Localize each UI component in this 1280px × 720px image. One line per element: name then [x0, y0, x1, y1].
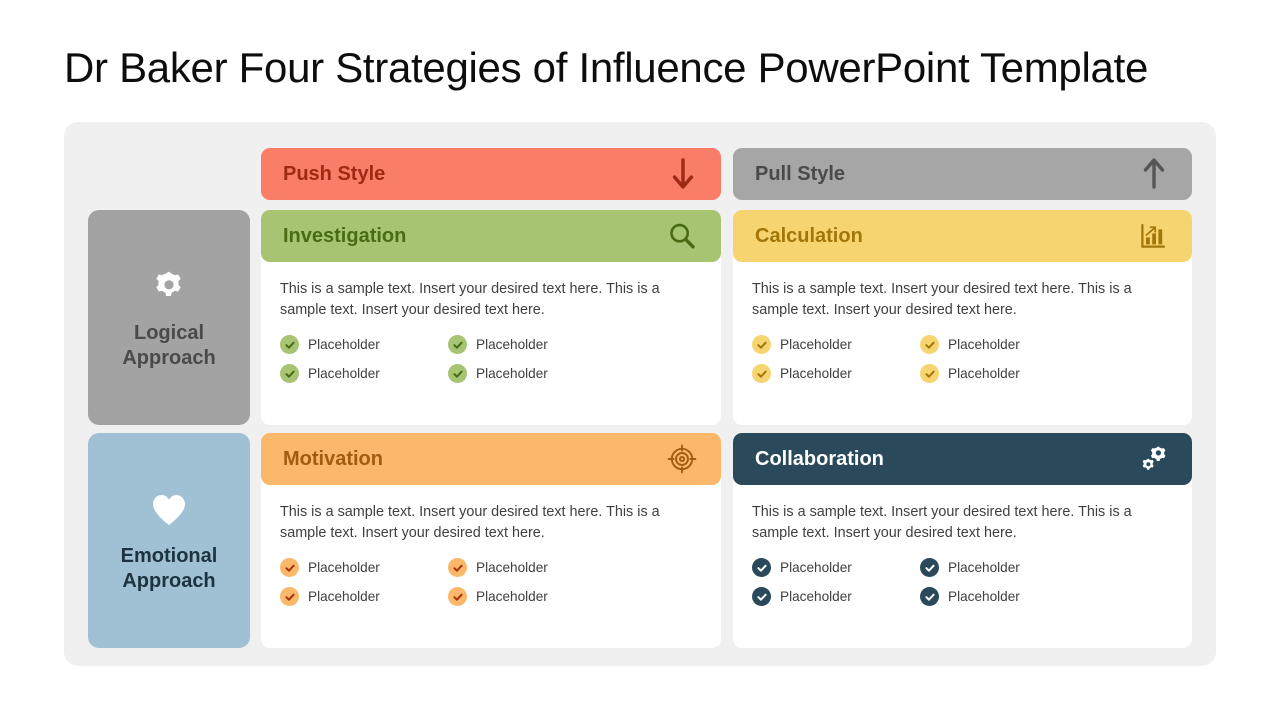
placeholder-label: Placeholder	[780, 587, 852, 606]
check-circle-icon	[280, 587, 299, 606]
diagram-panel: Push Style Pull Style	[64, 122, 1216, 666]
check-circle-icon	[280, 364, 299, 383]
approach-tile-emotional[interactable]: Emotional Approach	[88, 433, 250, 648]
placeholder-label: Placeholder	[308, 587, 380, 606]
placeholder-list: Placeholder Placeholder Placeholder	[752, 558, 1173, 606]
placeholder-label: Placeholder	[308, 335, 380, 354]
gear-icon	[147, 265, 191, 309]
placeholder-item[interactable]: Placeholder	[280, 558, 448, 577]
check-circle-icon	[752, 587, 771, 606]
placeholder-label: Placeholder	[780, 558, 852, 577]
check-circle-icon	[752, 558, 771, 577]
placeholder-item[interactable]: Placeholder	[752, 335, 920, 354]
strategy-card-motivation-header[interactable]: Motivation	[261, 433, 721, 485]
strategy-card-motivation-body: This is a sample text. Insert your desir…	[261, 485, 721, 606]
check-circle-icon	[280, 558, 299, 577]
placeholder-item[interactable]: Placeholder	[920, 335, 1173, 354]
check-circle-icon	[448, 364, 467, 383]
placeholder-label: Placeholder	[948, 558, 1020, 577]
gears-icon	[1136, 442, 1170, 476]
arrow-down-icon	[667, 157, 699, 191]
strategy-card-motivation-description: This is a sample text. Insert your desir…	[280, 502, 702, 544]
placeholder-item[interactable]: Placeholder	[752, 364, 920, 383]
placeholder-label: Placeholder	[476, 558, 548, 577]
check-circle-icon	[752, 335, 771, 354]
placeholder-item[interactable]: Placeholder	[920, 587, 1173, 606]
placeholder-item[interactable]: Placeholder	[448, 364, 702, 383]
strategy-card-calculation-body: This is a sample text. Insert your desir…	[733, 262, 1192, 383]
approach-tile-logical-label: Logical Approach	[122, 321, 215, 371]
placeholder-label: Placeholder	[308, 364, 380, 383]
strategy-card-calculation[interactable]: Calculation This is a sample text. Inser…	[733, 210, 1192, 425]
check-circle-icon	[920, 364, 939, 383]
strategy-card-investigation-description: This is a sample text. Insert your desir…	[280, 279, 702, 321]
placeholder-list: Placeholder Placeholder Placeholder	[752, 335, 1173, 383]
placeholder-item[interactable]: Placeholder	[752, 558, 920, 577]
strategy-card-investigation-title: Investigation	[283, 225, 665, 248]
strategy-card-calculation-title: Calculation	[755, 225, 1136, 248]
bar-chart-icon	[1136, 219, 1170, 253]
style-bar-push-label: Push Style	[283, 163, 667, 186]
strategy-card-investigation[interactable]: Investigation This is a sample text. Ins…	[261, 210, 721, 425]
placeholder-list: Placeholder Placeholder Placeholder	[280, 335, 702, 383]
placeholder-item[interactable]: Placeholder	[752, 587, 920, 606]
strategy-card-motivation[interactable]: Motivation This is a sample text. Insert…	[261, 433, 721, 648]
magnifier-icon	[665, 219, 699, 253]
style-bar-pull[interactable]: Pull Style	[733, 148, 1192, 200]
placeholder-item[interactable]: Placeholder	[448, 558, 702, 577]
check-circle-icon	[920, 335, 939, 354]
placeholder-item[interactable]: Placeholder	[280, 364, 448, 383]
strategy-card-calculation-header[interactable]: Calculation	[733, 210, 1192, 262]
check-circle-icon	[280, 335, 299, 354]
placeholder-item[interactable]: Placeholder	[280, 587, 448, 606]
check-circle-icon	[920, 587, 939, 606]
check-circle-icon	[448, 335, 467, 354]
placeholder-item[interactable]: Placeholder	[448, 335, 702, 354]
slide-canvas: Dr Baker Four Strategies of Influence Po…	[0, 0, 1280, 720]
page-title: Dr Baker Four Strategies of Influence Po…	[64, 40, 1224, 96]
strategy-card-collaboration[interactable]: Collaboration This is a sample text. Ins…	[733, 433, 1192, 648]
placeholder-label: Placeholder	[476, 364, 548, 383]
placeholder-label: Placeholder	[948, 335, 1020, 354]
arrow-up-icon	[1138, 157, 1170, 191]
approach-tile-emotional-label: Emotional Approach	[121, 544, 218, 594]
check-circle-icon	[752, 364, 771, 383]
approach-tile-logical[interactable]: Logical Approach	[88, 210, 250, 425]
placeholder-label: Placeholder	[308, 558, 380, 577]
placeholder-item[interactable]: Placeholder	[920, 558, 1173, 577]
placeholder-item[interactable]: Placeholder	[280, 335, 448, 354]
placeholder-label: Placeholder	[476, 587, 548, 606]
placeholder-item[interactable]: Placeholder	[920, 364, 1173, 383]
check-circle-icon	[448, 558, 467, 577]
strategy-card-collaboration-title: Collaboration	[755, 448, 1136, 471]
check-circle-icon	[448, 587, 467, 606]
strategy-card-investigation-header[interactable]: Investigation	[261, 210, 721, 262]
style-bar-pull-label: Pull Style	[755, 163, 1138, 186]
strategy-card-collaboration-body: This is a sample text. Insert your desir…	[733, 485, 1192, 606]
placeholder-label: Placeholder	[780, 364, 852, 383]
placeholder-label: Placeholder	[948, 587, 1020, 606]
style-bar-push[interactable]: Push Style	[261, 148, 721, 200]
placeholder-label: Placeholder	[780, 335, 852, 354]
check-circle-icon	[920, 558, 939, 577]
strategy-card-collaboration-header[interactable]: Collaboration	[733, 433, 1192, 485]
strategy-card-investigation-body: This is a sample text. Insert your desir…	[261, 262, 721, 383]
placeholder-item[interactable]: Placeholder	[448, 587, 702, 606]
placeholder-label: Placeholder	[948, 364, 1020, 383]
target-icon	[665, 442, 699, 476]
strategy-card-motivation-title: Motivation	[283, 448, 665, 471]
strategy-card-collaboration-description: This is a sample text. Insert your desir…	[752, 502, 1173, 544]
placeholder-list: Placeholder Placeholder Placeholder	[280, 558, 702, 606]
placeholder-label: Placeholder	[476, 335, 548, 354]
strategy-card-calculation-description: This is a sample text. Insert your desir…	[752, 279, 1173, 321]
heart-icon	[147, 488, 191, 532]
